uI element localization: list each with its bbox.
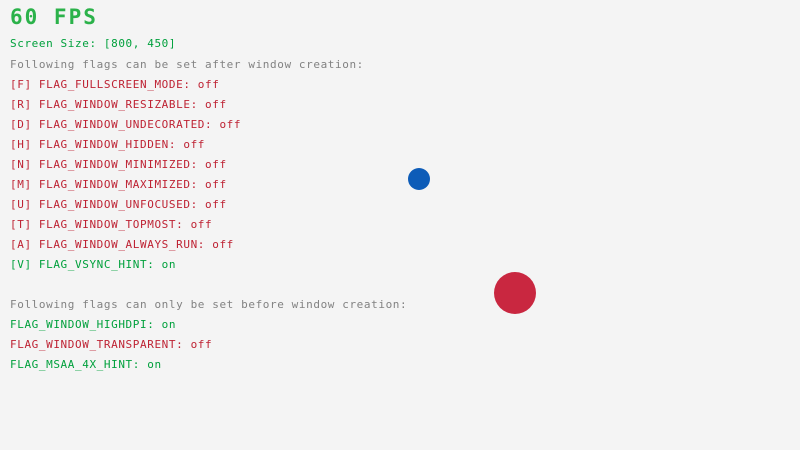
flag-row-flag-window-hidden[interactable]: [H] FLAG_WINDOW_HIDDEN: off xyxy=(10,139,205,150)
flag-row-flag-window-maximized[interactable]: [M] FLAG_WINDOW_MAXIMIZED: off xyxy=(10,179,227,190)
raylib-window-canvas: 60 FPS Screen Size: [800, 450] Following… xyxy=(0,0,800,450)
flag-row-flag-window-highdpi[interactable]: FLAG_WINDOW_HIGHDPI: on xyxy=(10,319,176,330)
section-header-before-creation: Following flags can only be set before w… xyxy=(10,299,407,310)
blue-ball-shape xyxy=(408,168,430,190)
flag-row-flag-fullscreen-mode[interactable]: [F] FLAG_FULLSCREEN_MODE: off xyxy=(10,79,219,90)
flag-row-flag-window-unfocused[interactable]: [U] FLAG_WINDOW_UNFOCUSED: off xyxy=(10,199,227,210)
fps-counter: 60 FPS xyxy=(10,7,98,28)
screen-size-label: Screen Size: [800, 450] xyxy=(10,38,176,49)
red-ball-shape xyxy=(494,272,536,314)
flag-row-flag-window-resizable[interactable]: [R] FLAG_WINDOW_RESIZABLE: off xyxy=(10,99,227,110)
flag-row-flag-window-topmost[interactable]: [T] FLAG_WINDOW_TOPMOST: off xyxy=(10,219,212,230)
flag-row-flag-window-transparent[interactable]: FLAG_WINDOW_TRANSPARENT: off xyxy=(10,339,212,350)
flag-row-flag-window-always-run[interactable]: [A] FLAG_WINDOW_ALWAYS_RUN: off xyxy=(10,239,234,250)
flag-row-flag-vsync-hint[interactable]: [V] FLAG_VSYNC_HINT: on xyxy=(10,259,176,270)
section-header-after-creation: Following flags can be set after window … xyxy=(10,59,364,70)
flag-row-flag-window-minimized[interactable]: [N] FLAG_WINDOW_MINIMIZED: off xyxy=(10,159,227,170)
flag-row-flag-window-undecorated[interactable]: [D] FLAG_WINDOW_UNDECORATED: off xyxy=(10,119,241,130)
flag-row-flag-msaa-4x-hint[interactable]: FLAG_MSAA_4X_HINT: on xyxy=(10,359,162,370)
